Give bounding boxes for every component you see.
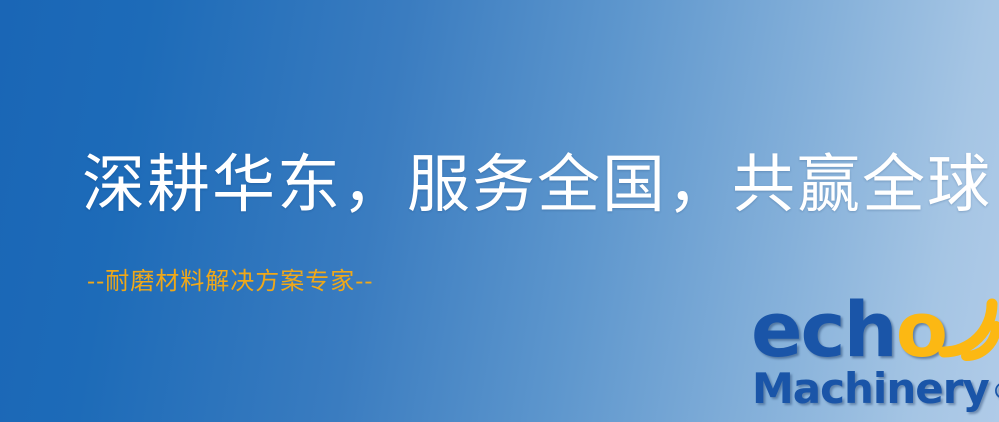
echo-machinery-logo: echo Machinery®: [748, 292, 999, 422]
logo-wordmark-ech: ech: [751, 285, 896, 374]
promotional-banner: 深耕华东，服务全国，共赢全球 --耐磨材料解决方案专家-- echo Machi…: [0, 0, 999, 422]
banner-subtitle: --耐磨材料解决方案专家--: [87, 268, 373, 294]
registered-trademark-icon: ®: [992, 379, 999, 405]
logo-subtext-label: Machinery: [752, 364, 989, 413]
logo-wordmark: echo: [751, 292, 946, 368]
banner-headline: 深耕华东，服务全国，共赢全球: [82, 152, 992, 218]
logo-subtext: Machinery®: [752, 368, 999, 410]
signal-waves-icon: [930, 290, 999, 362]
